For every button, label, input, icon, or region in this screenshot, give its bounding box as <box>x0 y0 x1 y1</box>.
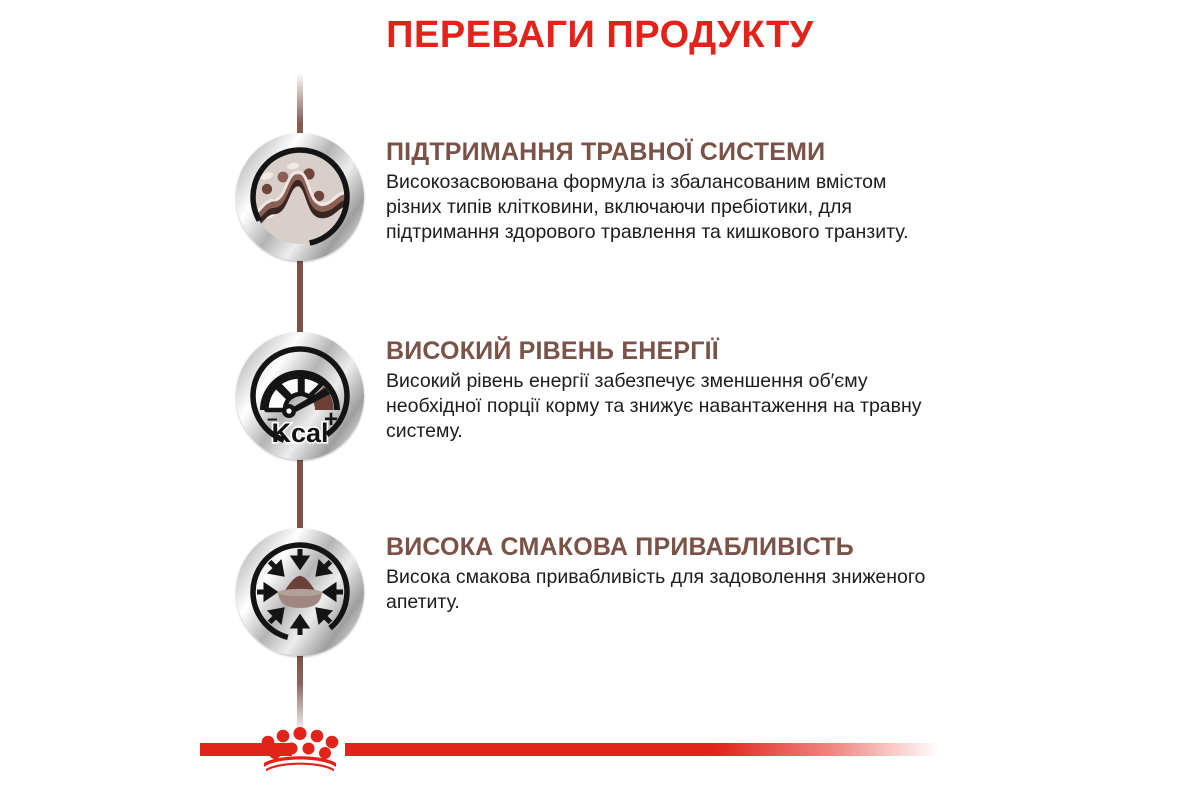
gauge-kcal-label: Kcal <box>271 418 328 448</box>
benefit-body: Високий рівень енергії забезпечує зменше… <box>386 369 946 445</box>
benefit-body: Висока смакова привабливість для задовол… <box>386 565 946 616</box>
royal-canin-crown-logo <box>256 726 344 772</box>
benefit-row: ПІДТРИМАННЯ ТРАВНОЇ СИСТЕМИ Високозасвою… <box>236 133 976 261</box>
benefit-body: Високозасвоювана формула із збалансовани… <box>386 170 946 246</box>
footer-bar-right-segment <box>345 743 940 756</box>
footer-brand-bar <box>0 736 1200 762</box>
benefit-heading: ПІДТРИМАННЯ ТРАВНОЇ СИСТЕМИ <box>386 139 946 166</box>
page-title: ПЕРЕВАГИ ПРОДУКТУ <box>0 14 1200 57</box>
connector-line-bottom <box>297 655 303 735</box>
benefit-heading: ВИСОКИЙ РІВЕНЬ ЕНЕРГІЇ <box>386 338 946 365</box>
palatability-bowl-icon <box>236 528 364 656</box>
benefit-text-block: ВИСОКИЙ РІВЕНЬ ЕНЕРГІЇ Високий рівень ен… <box>364 332 946 445</box>
benefit-text-block: ПІДТРИМАННЯ ТРАВНОЇ СИСТЕМИ Високозасвою… <box>364 133 946 246</box>
benefit-row: ВИСОКА СМАКОВА ПРИВАБЛИВІСТЬ Висока смак… <box>236 528 976 656</box>
benefit-row: – + Kcal ВИСОКИЙ РІВЕНЬ ЕНЕРГІЇ Високий … <box>236 332 976 460</box>
benefit-heading: ВИСОКА СМАКОВА ПРИВАБЛИВІСТЬ <box>386 534 946 561</box>
digestive-system-icon <box>236 133 364 261</box>
benefit-text-block: ВИСОКА СМАКОВА ПРИВАБЛИВІСТЬ Висока смак… <box>364 528 946 615</box>
energy-gauge-icon: – + Kcal <box>236 332 364 460</box>
